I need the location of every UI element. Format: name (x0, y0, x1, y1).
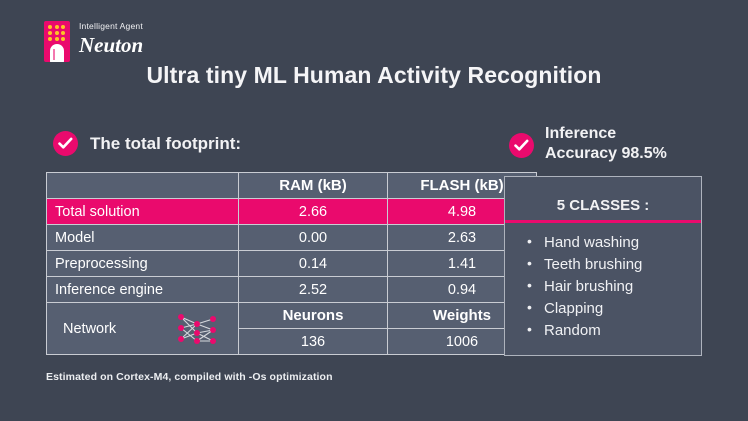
inference-label-line1: Inference (545, 125, 616, 142)
row-label-model: Model (47, 225, 239, 251)
table-row: Total solution 2.66 4.98 (47, 199, 537, 225)
list-item: Teeth brushing (527, 254, 701, 276)
cell-ram-total-solution: 2.66 (239, 199, 388, 225)
neuton-hand-logo-icon (44, 21, 70, 62)
network-label-text: Network (63, 321, 116, 337)
row-label-inference-engine: Inference engine (47, 277, 239, 303)
list-item: Hand washing (527, 232, 701, 254)
row-label-total-solution: Total solution (47, 199, 239, 225)
brand-name: Neuton (79, 34, 143, 56)
inference-accuracy-text: Inference Accuracy 98.5% (545, 124, 667, 165)
classes-panel-title: 5 CLASSES : (505, 177, 701, 220)
cell-ram-model: 0.00 (239, 225, 388, 251)
column-header-ram: RAM (kB) (239, 173, 388, 199)
network-subheader-neurons: Neurons (239, 303, 388, 329)
list-item: Hair brushing (527, 276, 701, 298)
check-circle-icon (53, 131, 78, 156)
table-row-network-headers: Network (47, 303, 537, 329)
footprint-footnote: Estimated on Cortex-M4, compiled with -O… (46, 371, 333, 383)
neural-network-icon (174, 311, 220, 347)
table-row: Preprocessing 0.14 1.41 (47, 251, 537, 277)
inference-accuracy-heading: Inference Accuracy 98.5% (509, 124, 667, 165)
cell-ram-preprocessing: 0.14 (239, 251, 388, 277)
cell-ram-inference-engine: 2.52 (239, 277, 388, 303)
logo-hand-shape (50, 44, 64, 62)
footprint-heading-label: The total footprint: (90, 134, 241, 154)
cell-network-neurons: 136 (239, 329, 388, 355)
list-item: Random (527, 320, 701, 342)
page-title: Ultra tiny ML Human Activity Recognition (0, 62, 748, 89)
classes-divider (505, 220, 701, 223)
classes-list: Hand washing Teeth brushing Hair brushin… (505, 232, 701, 342)
brand-tagline: Intelligent Agent (79, 22, 143, 31)
brand-text: Intelligent Agent Neuton (79, 21, 143, 56)
inference-label-line2: Accuracy 98.5% (545, 145, 667, 162)
table-header-row: RAM (kB) FLASH (kB) (47, 173, 537, 199)
list-item: Clapping (527, 298, 701, 320)
row-label-preprocessing: Preprocessing (47, 251, 239, 277)
classes-panel: 5 CLASSES : Hand washing Teeth brushing … (504, 176, 702, 356)
row-label-network: Network (47, 303, 239, 355)
column-header-blank (47, 173, 239, 199)
brand-logo: Intelligent Agent Neuton (44, 21, 143, 62)
check-circle-icon (509, 133, 534, 158)
footprint-heading: The total footprint: (53, 131, 241, 156)
logo-dot-grid (48, 25, 66, 41)
footprint-table: RAM (kB) FLASH (kB) Total solution 2.66 … (46, 172, 537, 355)
table-row: Inference engine 2.52 0.94 (47, 277, 537, 303)
table-row: Model 0.00 2.63 (47, 225, 537, 251)
